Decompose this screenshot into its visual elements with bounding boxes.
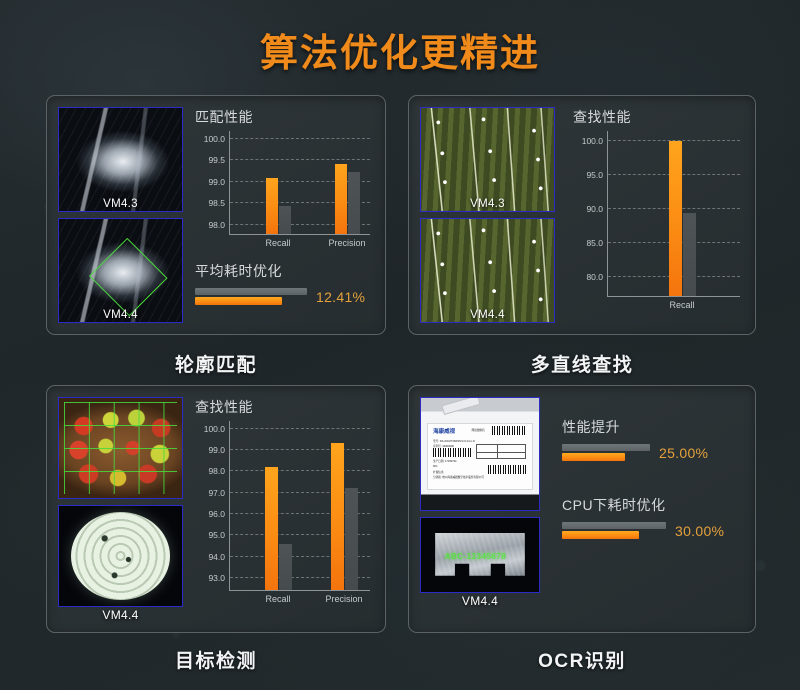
thumbnail-image-vm44[interactable]: VM4.4 <box>58 218 183 323</box>
thumbnail-image-vm43[interactable]: VM4.3 <box>58 107 183 212</box>
chart-gridline: 100.0 <box>230 138 370 139</box>
panel-caption-ocr-recognition: OCR识别 <box>408 646 756 673</box>
chart-x-tick-label: Recall <box>265 238 290 248</box>
progress-track <box>195 288 307 295</box>
thumbnail-column: VM4.3 VM4.4 <box>58 107 183 323</box>
chart-matching-performance: 98.098.599.099.5100.0RecallPrecision <box>195 131 374 255</box>
chart-x-tick-label: Recall <box>669 300 694 310</box>
progress-bar <box>562 444 650 461</box>
solar-panel-image <box>421 108 554 211</box>
chart-y-tick-label: 100.0 <box>204 424 225 434</box>
progress-track <box>562 444 650 451</box>
chart-gridline: 99.0 <box>230 449 370 450</box>
chart-gridline: 98.0 <box>230 470 370 471</box>
chart-y-tick-label: 98.5 <box>208 198 225 208</box>
progress-fill <box>562 453 625 461</box>
thumbnail-item[interactable]: VM4.4 <box>58 505 183 622</box>
metric-value: 25.00% <box>659 445 708 461</box>
metric-cpu-time-optimization: CPU下耗时优化 30.00% <box>562 495 744 539</box>
metric-label: 性能提升 <box>562 417 744 437</box>
panel-content: 匹配性能 98.098.599.099.5100.0RecallPrecisio… <box>183 107 374 323</box>
panel-caption-contour-matching: 轮廓匹配 <box>46 350 386 377</box>
thumbnail-column: VM4.4 <box>58 397 183 621</box>
chart-x-tick-label: Precision <box>328 238 365 248</box>
thumbnail-item[interactable]: ABC-12345678 VM4.4 <box>420 517 540 608</box>
label-line: 分销商: 杭州海康威视数字技术股份有限公司 <box>433 475 484 479</box>
barcode-icon <box>488 465 526 474</box>
panel-caption-multi-line-finding: 多直线查找 <box>408 350 756 377</box>
chart-finding-performance: 80.085.090.095.0100.0Recall <box>573 131 744 317</box>
thumbnail-item[interactable]: VM4.3 <box>58 107 183 212</box>
chart-bar <box>266 178 278 234</box>
panel-caption-object-detection: 目标检测 <box>46 646 386 673</box>
chart-y-tick-label: 100.0 <box>582 136 603 146</box>
chart-bar <box>335 164 347 234</box>
progress-bar <box>195 288 307 305</box>
thumbnail-label: VM4.4 <box>58 608 183 622</box>
apples-detection-image <box>59 398 182 498</box>
metal-part-image <box>59 108 182 211</box>
thumbnail-column: 海康威视 网络摄像机 型号: DS-2CD2T46WDV3-I3 4mm D 序… <box>420 397 540 621</box>
chart-bar <box>279 206 291 234</box>
metric-performance-boost: 性能提升 25.00% <box>562 417 744 461</box>
thumbnail-image-vm44[interactable]: VM4.4 <box>420 218 555 323</box>
label-subtitle: 网络摄像机 <box>472 428 485 432</box>
thumbnail-column: VM4.3 VM4.4 <box>420 107 555 323</box>
label-card: 海康威视 网络摄像机 型号: DS-2CD2T46WDV3-I3 4mm D 序… <box>427 423 533 490</box>
solar-panel-image <box>421 219 554 322</box>
panel-ocr-recognition: 海康威视 网络摄像机 型号: DS-2CD2T46WDV3-I3 4mm D 序… <box>408 385 756 633</box>
ocr-result-text: ABC-12345678 <box>445 552 507 561</box>
slide-root: 算法优化更精进 VM4.3 VM4.4 匹配性能 98.098.599.099 <box>0 0 800 690</box>
chart-y-tick-label: 99.0 <box>208 445 225 455</box>
thumbnail-item[interactable]: VM4.4 <box>58 218 183 323</box>
chart-bar <box>683 213 696 296</box>
label-line: MO: <box>433 465 438 468</box>
chart-title: 查找性能 <box>573 107 744 127</box>
label-line: 生产日期: 17169794 <box>433 459 456 463</box>
metric-row: 25.00% <box>562 444 744 461</box>
progress-fill <box>562 531 639 539</box>
panel-multi-line-finding: VM4.3 VM4.4 查找性能 80.085.090.095.0100.0Re… <box>408 95 756 335</box>
thumbnail-item[interactable]: VM4.3 <box>420 107 555 212</box>
thumbnail-label: VM4.4 <box>420 594 540 608</box>
page-title: 算法优化更精进 <box>0 22 800 77</box>
metric-avg-time-optimization: 平均耗时优化 12.41% <box>195 261 374 305</box>
thumbnail-label: VM4.3 <box>59 198 182 210</box>
product-label-image: 海康威视 网络摄像机 型号: DS-2CD2T46WDV3-I3 4mm D 序… <box>421 398 539 510</box>
panel-contour-matching: VM4.3 VM4.4 匹配性能 98.098.599.099.5100.0Re… <box>46 95 386 335</box>
chart-title: 查找性能 <box>195 397 374 417</box>
thumbnail-image-vm43[interactable]: VM4.3 <box>420 107 555 212</box>
thumbnail-label: VM4.3 <box>421 198 554 210</box>
chart-y-tick-label: 90.0 <box>586 204 603 214</box>
chart-plot-area: 98.098.599.099.5100.0RecallPrecision <box>229 131 370 235</box>
progress-fill <box>195 297 282 305</box>
label-line: 序列号: 44000600 <box>433 444 454 448</box>
thumbnail-image-metal-part-ocr[interactable]: ABC-12345678 <box>420 517 540 593</box>
label-brand: 海康威视 <box>433 427 455 435</box>
chart-y-tick-label: 98.0 <box>208 220 225 230</box>
thumbnail-item[interactable]: VM4.4 <box>420 218 555 323</box>
chart-bar <box>279 544 292 590</box>
metric-label: 平均耗时优化 <box>195 261 374 281</box>
panel-content: 性能提升 25.00% CPU下耗时优化 30.00% <box>540 397 744 621</box>
chart-bar <box>331 443 344 590</box>
chart-bar <box>345 488 358 590</box>
chart-plot-area: 80.085.090.095.0100.0Recall <box>607 131 740 297</box>
progress-bar <box>562 522 666 539</box>
chart-finding-performance: 93.094.095.096.097.098.099.0100.0RecallP… <box>195 421 374 611</box>
metric-row: 12.41% <box>195 288 374 305</box>
barcode-icon <box>492 426 525 435</box>
label-line: 型号: DS-2CD2T46WDV3-I3 4mm D <box>433 439 475 443</box>
metric-value: 30.00% <box>675 523 724 539</box>
chart-x-tick-label: Recall <box>265 594 290 604</box>
progress-track <box>562 522 666 529</box>
chart-y-tick-label: 96.0 <box>208 509 225 519</box>
metric-row: 30.00% <box>562 522 744 539</box>
chart-y-tick-label: 100.0 <box>204 134 225 144</box>
chart-gridline: 99.5 <box>230 159 370 160</box>
thumbnail-image-pills[interactable] <box>58 505 183 607</box>
thumbnail-image-barcode-label[interactable]: 海康威视 网络摄像机 型号: DS-2CD2T46WDV3-I3 4mm D 序… <box>420 397 540 511</box>
chart-y-tick-label: 80.0 <box>586 272 603 282</box>
chart-y-tick-label: 94.0 <box>208 552 225 562</box>
panel-object-detection: VM4.4 查找性能 93.094.095.096.097.098.099.01… <box>46 385 386 633</box>
metric-label: CPU下耗时优化 <box>562 495 744 515</box>
chart-y-tick-label: 95.0 <box>586 170 603 180</box>
chart-y-tick-label: 97.0 <box>208 488 225 498</box>
barcode-icon <box>433 448 471 456</box>
chart-title: 匹配性能 <box>195 107 374 127</box>
label-table <box>476 444 526 458</box>
thumbnail-item[interactable]: 海康威视 网络摄像机 型号: DS-2CD2T46WDV3-I3 4mm D 序… <box>420 397 540 511</box>
label-diagonal-strip <box>442 397 481 415</box>
chart-y-tick-label: 99.0 <box>208 177 225 187</box>
chart-bar <box>348 172 360 234</box>
chart-plot-area: 93.094.095.096.097.098.099.0100.0RecallP… <box>229 421 370 591</box>
chart-bar <box>265 467 278 590</box>
metric-value: 12.41% <box>316 289 365 305</box>
chart-y-tick-label: 95.0 <box>208 530 225 540</box>
chart-y-tick-label: 98.0 <box>208 466 225 476</box>
chart-bar <box>669 141 682 296</box>
chart-y-tick-label: 93.0 <box>208 573 225 583</box>
chart-y-tick-label: 85.0 <box>586 238 603 248</box>
panel-content: 查找性能 93.094.095.096.097.098.099.0100.0Re… <box>183 397 374 621</box>
chart-y-tick-label: 99.5 <box>208 155 225 165</box>
panel-content: 查找性能 80.085.090.095.0100.0Recall <box>555 107 744 323</box>
thumbnail-label: VM4.4 <box>421 309 554 321</box>
thumbnail-label: VM4.4 <box>59 309 182 321</box>
chart-gridline: 100.0 <box>230 428 370 429</box>
chart-x-tick-label: Precision <box>325 594 362 604</box>
thumbnail-image-apples[interactable] <box>58 397 183 499</box>
pill-tray-image <box>59 506 182 606</box>
thumbnail-item[interactable] <box>58 397 183 499</box>
label-line: 扩展信息: <box>433 470 444 474</box>
